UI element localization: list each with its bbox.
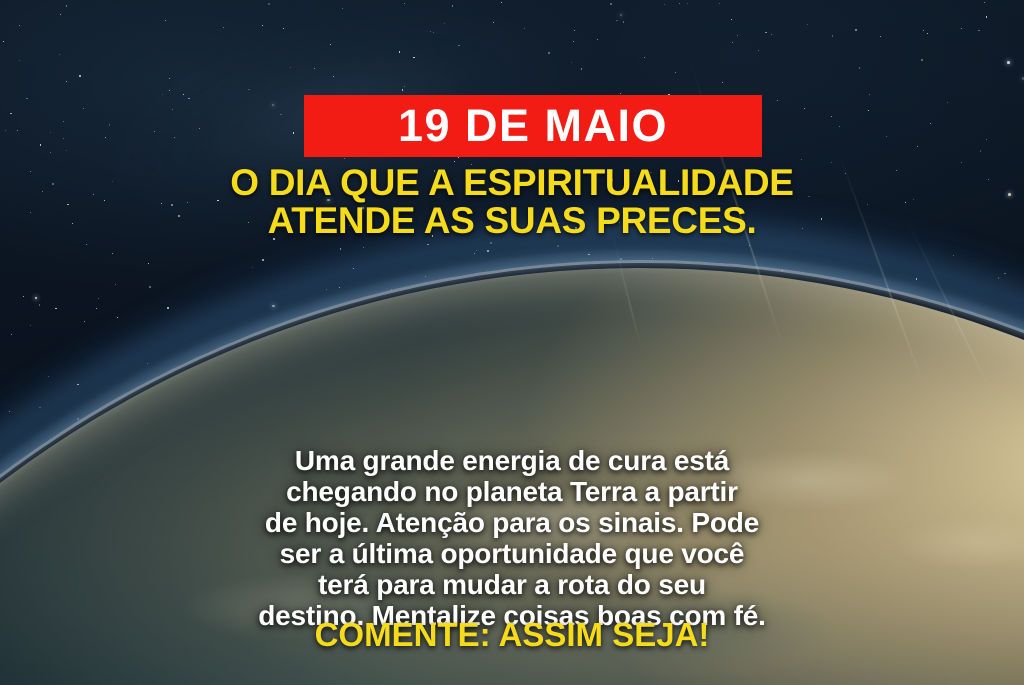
date-badge: 19 DE MAIO [304,95,762,157]
body-message: Uma grande energia de cura está chegando… [0,445,1024,631]
page-title: O DIA QUE A ESPIRITUALIDADE ATENDE AS SU… [0,164,1024,240]
call-to-action: COMENTE: ASSIM SEJA! [0,616,1024,654]
poster-content: 19 DE MAIO O DIA QUE A ESPIRITUALIDADE A… [0,0,1024,685]
poster-canvas: 19 DE MAIO O DIA QUE A ESPIRITUALIDADE A… [0,0,1024,685]
